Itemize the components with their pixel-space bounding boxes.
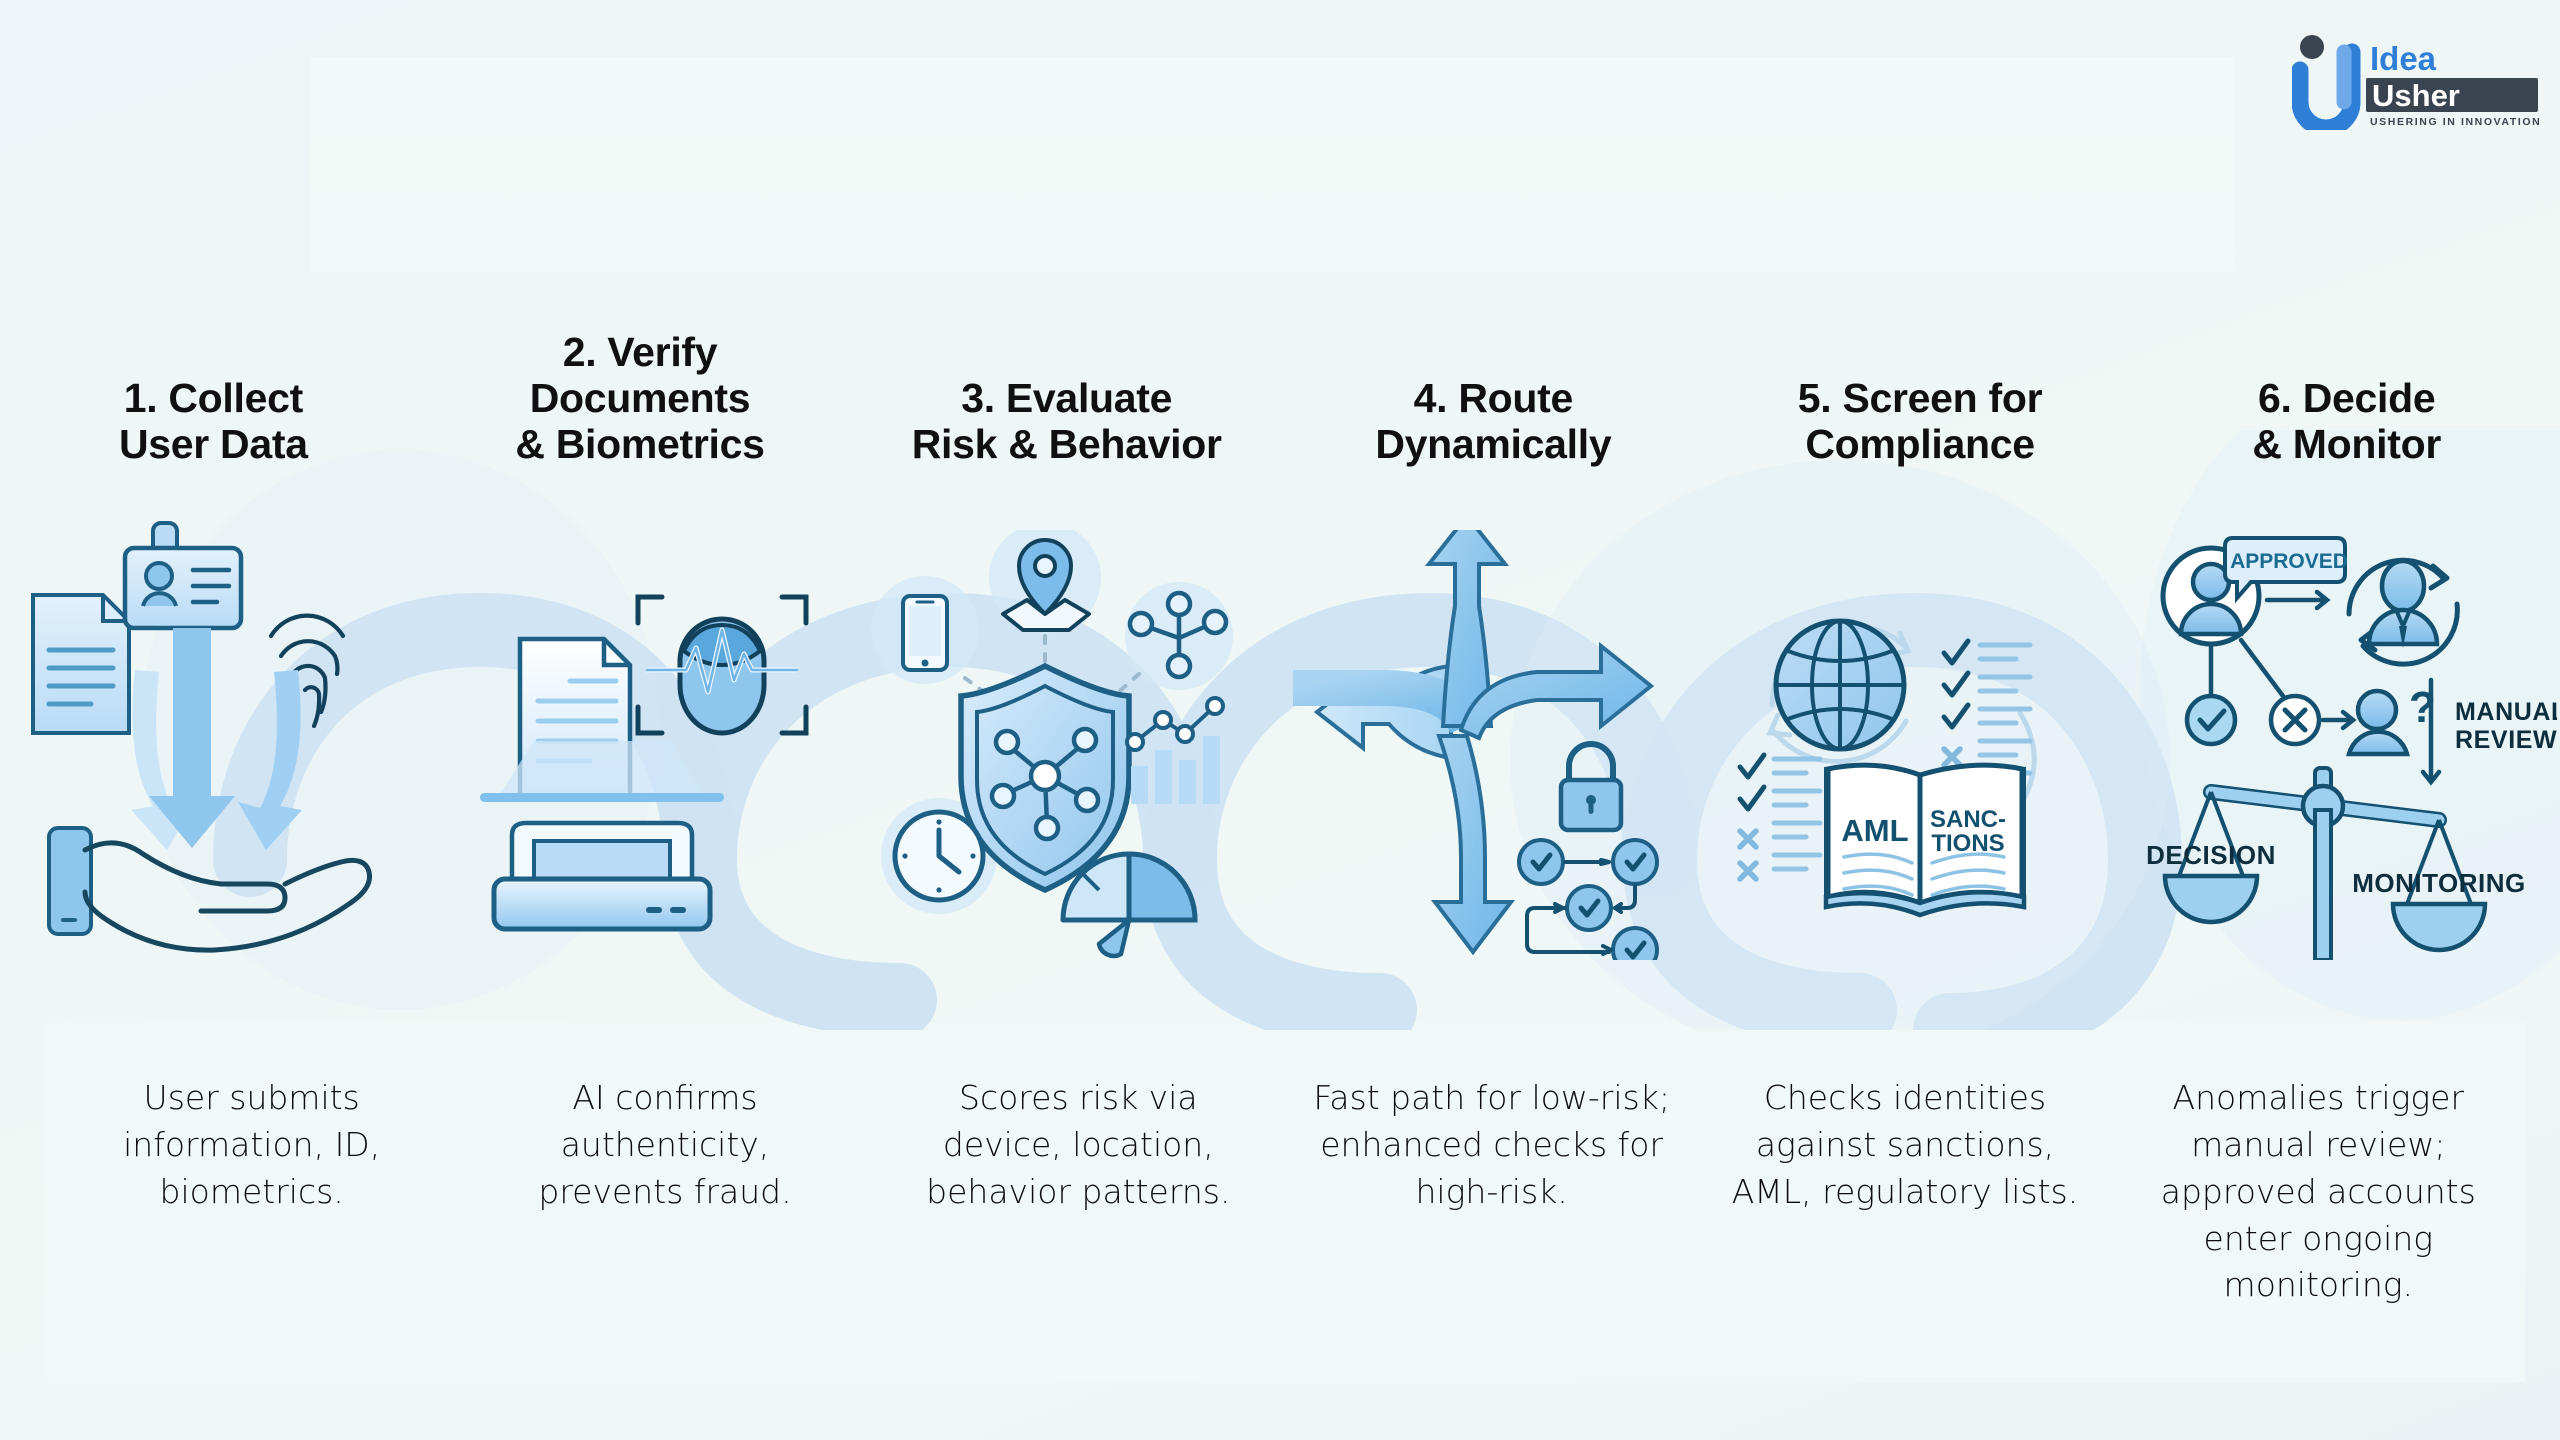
id-card-icon [125,523,241,628]
icon-cell-3 [853,470,1280,1020]
down-arrows [131,628,302,850]
step-heading: 4. Route Dynamically [1375,376,1611,468]
decide-monitor-illustration: APPROVED [2137,530,2557,960]
globe-icon [1776,621,1904,749]
clock-icon [895,812,983,900]
top-panel [310,57,2235,272]
step-heading: 6. Decide & Monitor [2252,376,2441,468]
flow-arrow [2323,712,2353,728]
icon-cell-2 [427,470,854,1020]
step-caption: Fast path for low-risk; enhanced checks … [1311,1075,1672,1216]
icon-cell-6: APPROVED [2133,470,2560,1020]
heading-cell-5: 5. Screen for Compliance [1707,268,2134,468]
step-heading: 2. Verify Documents & Biometrics [515,330,764,468]
book-label-sanctions-1: SANC- [1930,806,2006,833]
manual-review-label-1: MANUAL [2455,698,2557,726]
caption-cell-5: Checks identities against sanctions, AML… [1698,1075,2111,1309]
open-book-icon: AML SANC- TIONS [1826,765,2024,915]
logo-text-usher: Usher [2372,78,2460,113]
monitoring-label: MONITORING [2352,868,2526,898]
checklist-icon [1740,755,1820,879]
padlock-icon [1561,744,1621,830]
step-caption: Checks identities against sanctions, AML… [1724,1075,2085,1216]
balance-scale-icon: DECISION MONITORING [2146,768,2526,960]
approved-badge: APPROVED [2225,538,2348,598]
step-headings-row: 1. Collect User Data 2. Verify Documents… [0,268,2560,468]
heading-cell-4: 4. Route Dynamically [1280,268,1707,468]
check-circle-icon [2187,696,2235,744]
evaluate-risk-illustration [867,530,1267,960]
heading-cell-1: 1. Collect User Data [0,268,427,468]
step-caption: AI confirms authenticity, prevents fraud… [484,1075,845,1216]
caption-cell-6: Anomalies trigger manual review; approve… [2112,1075,2525,1309]
caption-cell-4: Fast path for low-risk; enhanced checks … [1285,1075,1698,1309]
idea-usher-logo: Idea Usher USHERING IN INNOVATION [2292,30,2542,130]
logo-tagline: USHERING IN INNOVATION [2370,116,2541,128]
book-label-aml: AML [1841,813,1908,848]
step-heading: 1. Collect User Data [119,376,308,468]
caption-cell-3: Scores risk via device, location, behavi… [872,1075,1285,1309]
bar-chart-icon [1127,698,1223,804]
caption-cell-1: User submits information, ID, biometrics… [45,1075,458,1309]
verify-documents-illustration [450,535,830,955]
branch-arrow-down [1435,736,1511,952]
scan-beam-icon [480,741,724,802]
logo-text-idea: Idea [2370,40,2437,77]
step-caption: Anomalies trigger manual review; approve… [2138,1075,2499,1309]
approved-label: APPROVED [2230,550,2348,573]
collect-user-data-illustration [13,510,413,980]
icon-cell-1 [0,470,427,1020]
phone-icon [49,828,91,934]
heading-cell-3: 3. Evaluate Risk & Behavior [853,268,1280,468]
logo-dot-icon [2300,35,2324,59]
step-caption: Scores risk via device, location, behavi… [898,1075,1259,1216]
step-caption: User submits information, ID, biometrics… [71,1075,432,1216]
decision-branches [2211,640,2283,696]
x-circle-icon [2271,696,2319,744]
checkmark-flow-icon [1519,840,1657,960]
document-icon [33,595,129,733]
screen-compliance-illustration: AML SANC- TIONS [1720,545,2120,945]
step-heading: 5. Screen for Compliance [1798,376,2042,468]
icon-cell-4 [1280,470,1707,1020]
infographic-canvas: Idea Usher USHERING IN INNOVATION 1. Col… [0,0,2560,1440]
caption-cell-2: AI confirms authenticity, prevents fraud… [458,1075,871,1309]
heading-cell-6: 6. Decide & Monitor [2133,268,2560,468]
manual-review-label-2: REVIEW [2455,726,2557,754]
step-captions-row: User submits information, ID, biometrics… [45,1075,2525,1309]
icon-cell-5: AML SANC- TIONS [1707,470,2134,1020]
step-icons-row: AML SANC- TIONS [0,470,2560,1020]
smartphone-icon [903,596,947,670]
flow-arrow [2267,592,2327,608]
decision-label: DECISION [2146,840,2276,870]
face-scan-frame-icon [638,597,806,733]
route-dynamically-illustration [1293,530,1693,960]
step-heading: 3. Evaluate Risk & Behavior [912,376,1222,468]
monitor-cycle-icon [2349,560,2457,664]
flatbed-scanner-icon [494,823,710,929]
question-user-icon: ? [2349,683,2436,754]
open-hand-icon [85,843,370,950]
heading-cell-2: 2. Verify Documents & Biometrics [427,268,854,468]
